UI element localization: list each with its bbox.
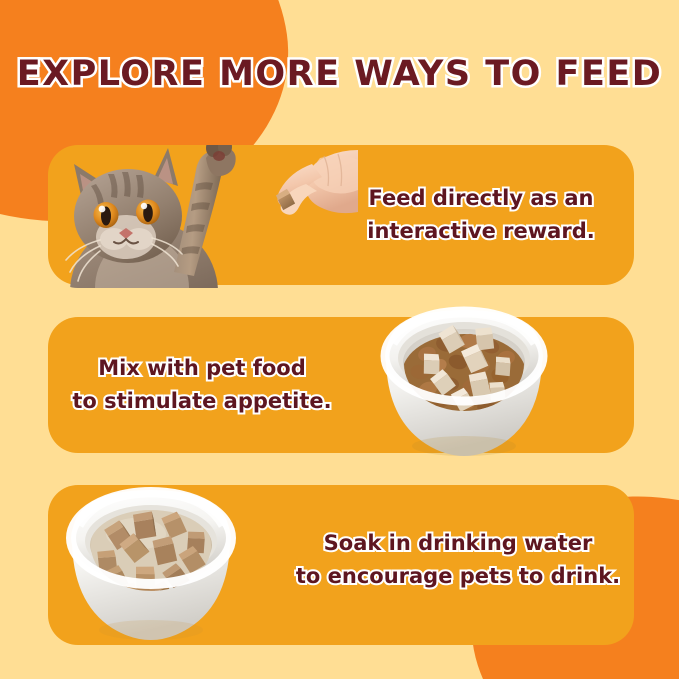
card-text-feed-directly: Feed directly as an interactive reward. <box>336 182 626 247</box>
poster-root: Explore more ways to feed <box>0 0 679 679</box>
card-text-soak-in-water: Soak in drinking water to encourage pets… <box>284 527 632 592</box>
soaked-cubes-bowl-illustration <box>58 474 244 646</box>
card-text-mix-with-food: Mix with pet food to stimulate appetite. <box>52 352 352 417</box>
page-title: Explore more ways to feed <box>0 54 679 94</box>
kibble-bowl-illustration <box>372 296 556 462</box>
